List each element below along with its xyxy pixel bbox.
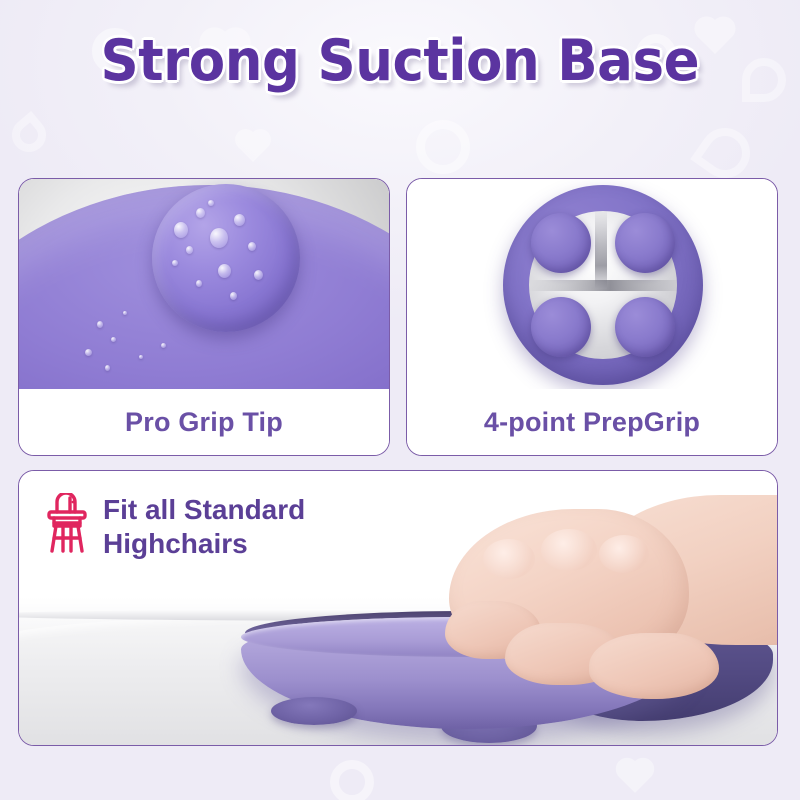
decor-ring-icon bbox=[330, 760, 374, 800]
decor-swirl-icon bbox=[5, 111, 53, 159]
suction-point-bottom-left bbox=[531, 297, 591, 357]
highchair-label-line1: Fit all Standard bbox=[103, 494, 305, 525]
panel-prep-grip: 4-point PrepGrip bbox=[406, 178, 778, 456]
prep-grip-photo bbox=[407, 179, 777, 391]
suction-point-bottom-right bbox=[615, 297, 675, 357]
infographic-page: Strong Suction Base bbox=[0, 0, 800, 800]
decor-heart-icon bbox=[619, 761, 651, 793]
decor-ring-icon bbox=[416, 120, 470, 174]
highchair-label: Fit all StandardHighchairs bbox=[45, 493, 305, 561]
pro-grip-tip-caption: Pro Grip Tip bbox=[19, 389, 389, 455]
hand-lifting-bowl bbox=[439, 493, 777, 723]
highchair-icon bbox=[45, 493, 89, 555]
grip-tip-bump bbox=[152, 184, 300, 332]
finger-lower bbox=[589, 633, 719, 699]
base-ridge-vertical bbox=[595, 211, 607, 289]
highchair-fit-photo: Fit all StandardHighchairs bbox=[19, 471, 777, 745]
title-container: Strong Suction Base bbox=[0, 28, 800, 94]
bowl-base-disc bbox=[503, 185, 703, 385]
panel-pro-grip-tip: Pro Grip Tip bbox=[18, 178, 390, 456]
highchair-label-line2: Highchairs bbox=[103, 528, 248, 559]
decor-heart-icon bbox=[238, 132, 268, 162]
panel-highchair-fit: Fit all StandardHighchairs bbox=[18, 470, 778, 746]
page-title: Strong Suction Base bbox=[101, 28, 700, 94]
highchair-label-text: Fit all StandardHighchairs bbox=[103, 493, 305, 561]
bowl-suction-cup-left bbox=[271, 697, 357, 725]
pro-grip-tip-photo bbox=[19, 179, 389, 391]
suction-point-top-right bbox=[615, 213, 675, 273]
prep-grip-caption: 4-point PrepGrip bbox=[407, 389, 777, 455]
suction-point-top-left bbox=[531, 213, 591, 273]
